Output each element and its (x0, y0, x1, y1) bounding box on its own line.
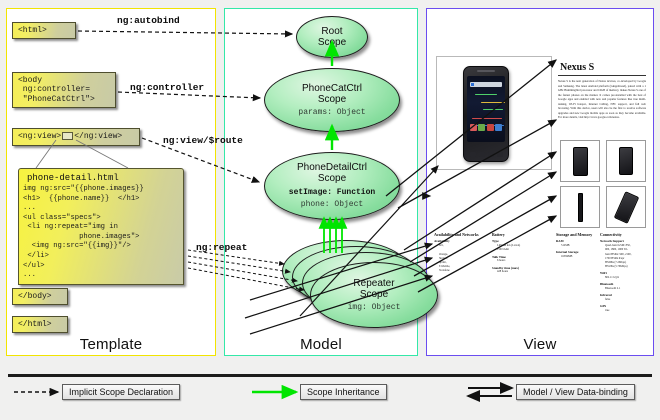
ngview-open-label: <ng:view> (18, 132, 61, 141)
view-device-title: Nexus S (560, 62, 594, 73)
scope-repeater-members: img: Object (348, 303, 401, 313)
thumbnail-front[interactable] (560, 140, 600, 182)
app-icon-4 (495, 124, 502, 131)
scope-phonecatctrl-members: params: Object (298, 108, 365, 118)
view-device-description: Nexus S is the next generation of Nexus … (558, 79, 646, 120)
scope-phonedetailctrl-title: PhoneDetailCtrlScope (297, 162, 367, 184)
spec-value-network-support: Quad-band GSM: 850, 900, 1800, 1900 Tri-… (605, 244, 650, 269)
screen-line-1 (475, 94, 497, 95)
spec-column-connectivity: Connectivity Network Support Quad-band G… (600, 232, 650, 313)
panel-label-model: Model (224, 336, 418, 353)
legend-item-scope-inheritance: Scope Inheritance (248, 384, 387, 400)
panel-label-view: View (426, 336, 654, 353)
edge-label-ngrepeat: ng:repeat (196, 242, 247, 253)
legend-label-implicit-scope: Implicit Scope Declaration (62, 384, 180, 400)
spec-column-availability: Availability and Networks Availability M… (434, 232, 486, 274)
scope-root-title: RootScope (318, 26, 346, 48)
scope-phonecatctrl-title: PhoneCatCtrlScope (302, 83, 362, 105)
template-note-phone-detail: phone-detail.html img ng:src="{{phone.im… (18, 168, 184, 285)
spec-value-wifi: 802.11 b/g/n (605, 276, 650, 280)
spec-value-gps: true (605, 309, 650, 313)
legend-art-slot-3 (464, 385, 510, 399)
view-hero-photo-frame (436, 56, 552, 170)
phone-hardware-keys (468, 151, 504, 158)
legend-item-implicit-scope: Implicit Scope Declaration (10, 384, 180, 400)
screen-line-2 (481, 102, 505, 103)
scope-phonecatctrl: PhoneCatCtrlScope params: Object (264, 68, 400, 132)
scope-repeater-title: RepeaterScope (353, 278, 394, 300)
spec-value-infrared: false (605, 298, 650, 302)
spec-header-availability: Availability and Networks (434, 232, 486, 237)
spec-header-connectivity: Connectivity (600, 232, 650, 237)
legend-art-slot-1 (10, 385, 56, 399)
scope-root: RootScope (296, 16, 368, 58)
thumbnail-edge[interactable] (560, 186, 600, 228)
key-search-icon (488, 152, 494, 157)
legend-art-slot-2 (248, 385, 294, 399)
phone-screen (467, 76, 505, 142)
code-tag-body-close: </body> (12, 288, 68, 305)
thumb-edge-icon (578, 193, 583, 222)
thumb-back-icon (619, 147, 633, 175)
spec-value-bluetooth: Bluetooth 2.1 (605, 287, 650, 291)
legend-divider (8, 374, 652, 377)
spec-value-talk-time: 6 hours (497, 259, 550, 263)
key-menu-icon (479, 152, 485, 157)
view-specs-table: Availability and Networks Availability M… (434, 232, 648, 324)
screen-line-4 (472, 118, 502, 119)
view-thumbnail-grid (560, 140, 646, 228)
screen-app-icons (469, 124, 503, 133)
spec-value-availability: M1, Orange, Singtel, Sprint, T-Mobile, V… (439, 244, 486, 273)
ngview-close-label: </ng:view> (74, 132, 122, 141)
code-tag-ngview: <ng:view></ng:view> (12, 128, 140, 146)
member-setimage: setImage: Function (289, 188, 375, 197)
note-filename: phone-detail.html (19, 169, 183, 185)
legend-label-scope-inheritance: Scope Inheritance (300, 384, 387, 400)
key-back-icon (470, 152, 476, 157)
note-code: img ng:src="{{phone.images}} <h1> {{phon… (19, 185, 183, 284)
thumbnail-back[interactable] (606, 140, 646, 182)
thumb-front-icon (573, 147, 588, 176)
spec-header-battery: Battery (492, 232, 550, 237)
legend-label-data-binding: Model / View Data-binding (516, 384, 635, 400)
thumb-tilt-icon (613, 191, 638, 224)
thumbnail-tilted[interactable] (606, 186, 646, 228)
spec-value-battery-type: Lithium Ion (Li-Ion) 1500 mAh (497, 244, 550, 252)
scope-repeater: RepeaterScope img: Object (310, 262, 438, 328)
ngview-slot-icon (62, 132, 73, 140)
phone-speaker-icon (477, 70, 495, 72)
edge-label-controller: ng:controller (130, 82, 204, 93)
diagram-canvas: <html> <body ng:controller= "PhoneCatCtr… (0, 0, 660, 420)
screen-line-3 (483, 109, 503, 110)
edge-label-ngview-route: ng:view/$route (163, 135, 243, 146)
edge-label-autobind: ng:autobind (117, 15, 180, 26)
scope-phonedetailctrl-member-setimage: setImage: Function (289, 188, 375, 198)
code-tag-html-close: </html> (12, 316, 68, 333)
app-icon-1 (470, 124, 477, 131)
scope-phonedetailctrl-member-phone: phone: Object (301, 200, 363, 210)
app-icon-2 (478, 124, 485, 131)
key-home-icon (497, 152, 503, 157)
spec-column-battery: Battery Type Lithium Ion (Li-Ion) 1500 m… (492, 232, 550, 275)
spec-value-standby: 428 hours (497, 270, 550, 274)
nexus-s-phone-image (463, 66, 509, 162)
code-tag-body: <body ng:controller= "PhoneCatCtrl"> (12, 72, 116, 108)
screen-search-bar (470, 82, 502, 87)
legend-item-data-binding: Model / View Data-binding (464, 384, 635, 400)
panel-label-template: Template (6, 336, 216, 353)
view-title-divider (558, 75, 646, 76)
code-tag-html: <html> (12, 22, 76, 39)
scope-phonedetailctrl: PhoneDetailCtrlScope setImage: Function … (264, 152, 400, 220)
app-icon-3 (487, 124, 494, 131)
